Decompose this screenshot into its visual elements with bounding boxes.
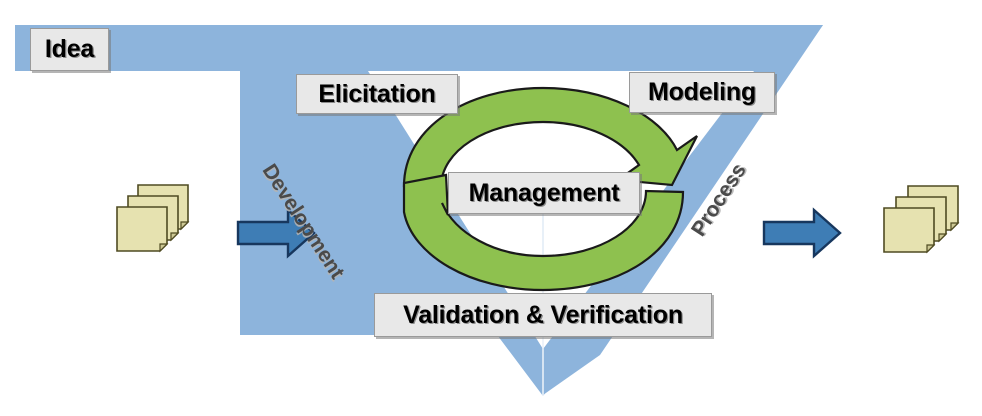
node-label-elicitation: Elicitation [318, 80, 435, 109]
node-label-idea: Idea [45, 35, 94, 64]
node-box-elicitation[interactable]: Elicitation [296, 74, 458, 114]
output-arrow[interactable] [764, 210, 840, 256]
output-arrow-shape [764, 210, 840, 256]
node-box-validation-verification[interactable]: Validation & Verification [374, 293, 712, 337]
node-label-management: Management [469, 179, 620, 208]
node-box-idea[interactable]: Idea [30, 28, 109, 71]
output-document-sheet-1 [884, 208, 934, 252]
output-documents[interactable] [884, 186, 958, 252]
node-box-modeling[interactable]: Modeling [629, 72, 775, 113]
input-document-sheet-1 [117, 207, 167, 251]
node-box-management[interactable]: Management [448, 172, 640, 214]
node-label-validation-verification: Validation & Verification [403, 301, 683, 330]
input-documents[interactable] [117, 185, 188, 251]
node-label-modeling: Modeling [648, 78, 756, 107]
requirements-engineering-diagram: Development Process Idea Elicitation Mod… [0, 0, 982, 416]
